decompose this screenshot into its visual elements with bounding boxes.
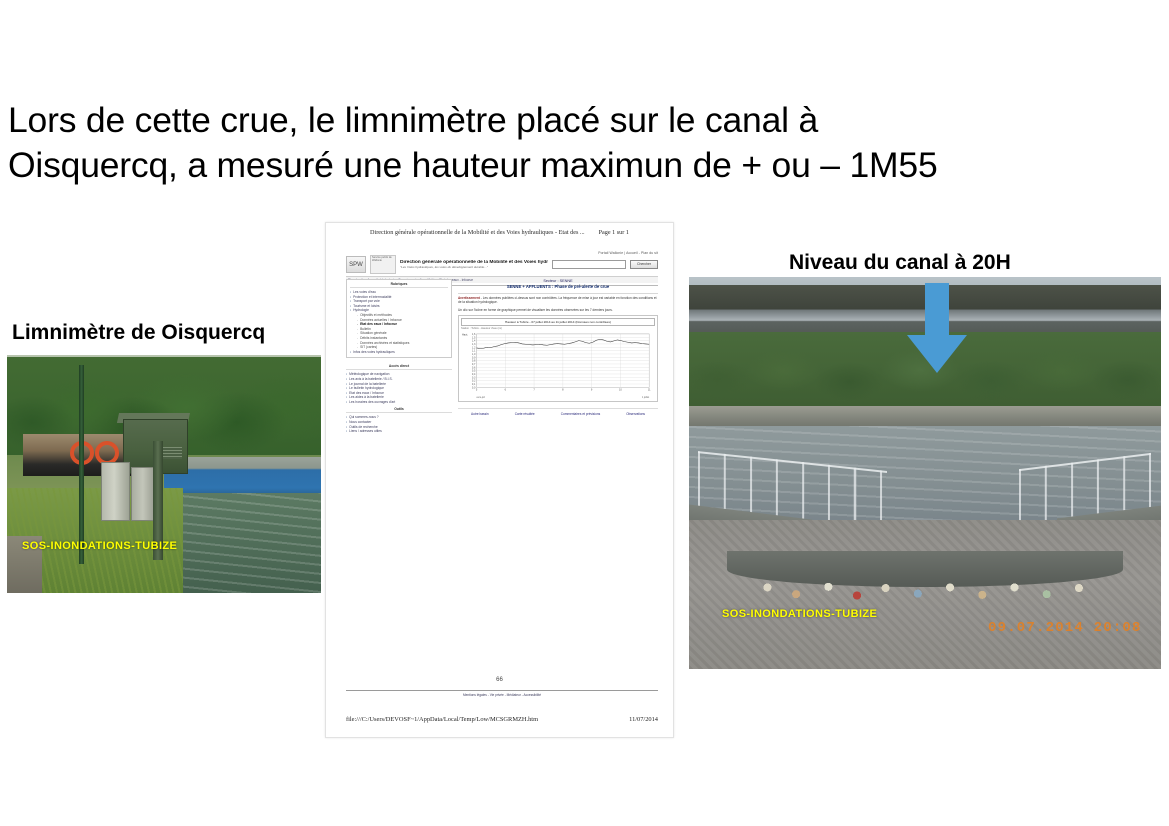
print-header-title: Direction générale opérationnelle de la …	[370, 229, 585, 236]
svg-text:8: 8	[562, 388, 564, 391]
caption-niveau-canal: Niveau du canal à 20H	[789, 250, 1011, 276]
chart-subtitle: Station : Tubize - Hauteur d'eau (m)	[461, 327, 655, 330]
print-footer-date: 11/07/2014	[629, 716, 658, 723]
svg-text:1,4: 1,4	[472, 339, 476, 342]
dept-slogan: "Les Voies hydrauliques, les voies du dé…	[400, 265, 548, 269]
chart-intro-text: Un clic sur l'icône en forme de graphiqu…	[458, 308, 658, 312]
link-previsions[interactable]: Commentaires et prévisions	[561, 412, 601, 416]
warning-prefix: Avertissement	[458, 296, 480, 300]
svg-text:0,4: 0,4	[472, 373, 476, 376]
svg-text:7: 7	[533, 388, 535, 391]
document-sidebar: Rubriques Les voies d'eau Protection et …	[346, 279, 452, 434]
svg-text:1,5: 1,5	[472, 336, 476, 339]
svg-text:0,5: 0,5	[472, 370, 476, 373]
svg-text:10: 10	[619, 388, 622, 391]
banner-text: Direction générale opérationnelle de la …	[400, 260, 548, 269]
sidebar-panel-acces-direct: Accès direct Météologique de navigation …	[346, 364, 452, 404]
chart-legend: Hauteur à Tubize - 07 juillet 2014 au 11…	[461, 318, 655, 326]
svg-text:0,8: 0,8	[472, 360, 476, 363]
arrow-down-icon	[905, 283, 969, 375]
svg-text:0,1: 0,1	[472, 383, 476, 386]
svg-text:11: 11	[648, 388, 651, 391]
photo-right-debris	[746, 575, 1105, 606]
link-observations[interactable]: Observations	[626, 412, 645, 416]
svg-text:0,6: 0,6	[472, 366, 476, 369]
sidebar-item-infos[interactable]: Infos des voies hydrauliques	[350, 350, 448, 355]
photo-left-pole	[79, 365, 84, 565]
print-footer-path: file:///C:/Users/DEVOSF~1/AppData/Local/…	[346, 716, 538, 723]
spw-logo: SPW	[346, 256, 366, 273]
document-links-row: Autre bassin Carte résultée Commentaires…	[458, 408, 658, 416]
photo-timestamp: 09.07.2014 20:08	[988, 620, 1142, 636]
svg-text:0,7: 0,7	[472, 363, 476, 366]
document-body: Rubriques Les voies d'eau Protection et …	[346, 279, 658, 434]
hydrograph-chart: 0,00,10,20,30,40,50,60,70,80,91,01,11,21…	[461, 331, 655, 399]
svg-text:1,6: 1,6	[472, 333, 476, 336]
tools-title: Outils	[346, 407, 452, 413]
svg-text:0,3: 0,3	[472, 376, 476, 379]
warning-notice: Avertissement - Les données publiées ci-…	[458, 293, 658, 305]
alert-title: SENNE + AFFLUENTS : Phase de pré-alerte …	[458, 284, 658, 289]
photo-limnimetre-oisquercq	[7, 355, 321, 593]
sidebar-panel-rubriques: Rubriques Les voies d'eau Protection et …	[346, 279, 452, 358]
wallonie-logo: Service public de Wallonie	[370, 255, 396, 274]
sidebar-panel-outils: Outils Qui sommes-nous ? Nous contacter …	[346, 407, 452, 433]
svg-text:1,2: 1,2	[472, 346, 476, 349]
tool-liens-utiles[interactable]: Liens / adresses utiles	[346, 429, 452, 434]
svg-text:1,1: 1,1	[472, 349, 476, 352]
print-footer: file:///C:/Users/DEVOSF~1/AppData/Local/…	[346, 716, 658, 723]
hydrograph-panel: Hauteur à Tubize - 07 juillet 2014 au 11…	[458, 315, 658, 402]
svg-text:1,3: 1,3	[472, 343, 476, 346]
quicklinks-title: Accès direct	[346, 364, 452, 370]
svg-text:5: 5	[476, 388, 478, 391]
watermark-left: SOS-INONDATIONS-TUBIZE	[22, 540, 177, 552]
slide-canvas: Lors de cette crue, le limnimètre placé …	[0, 0, 1169, 826]
lifebuoy-icon	[95, 441, 119, 465]
svg-text:6: 6	[505, 388, 507, 391]
search-button[interactable]: Chercher	[630, 260, 658, 269]
sector-label: Secteur : SENNE	[458, 279, 658, 283]
footer-links[interactable]: Mentions légales - Vie privée - Médiateu…	[346, 690, 658, 697]
page-title: Lors de cette crue, le limnimètre placé …	[8, 98, 1164, 188]
limnimeter-box-a	[101, 462, 130, 521]
document-main: Secteur : SENNE SENNE + AFFLUENTS : Phas…	[458, 279, 658, 434]
print-header-page: Page 1 sur 1	[599, 229, 629, 236]
caption-limnimetre: Limnimètre de Oisquercq	[12, 320, 265, 346]
sidebar-title: Rubriques	[350, 282, 448, 288]
watermark-right: SOS-INONDATIONS-TUBIZE	[722, 608, 877, 620]
svg-text:1,0: 1,0	[472, 353, 476, 356]
warning-text: - Les données publiées ci-dessus sont no…	[458, 296, 657, 304]
quicklink-horaires[interactable]: Les horaires des ouvrages d'art	[346, 400, 452, 405]
svg-text:1 juillet: 1 juillet	[642, 396, 650, 399]
svg-text:0,2: 0,2	[472, 380, 476, 383]
svg-text:9: 9	[591, 388, 593, 391]
document-scan-hydrology-report: Direction générale opérationnelle de la …	[325, 222, 674, 738]
page-marker: 66	[326, 677, 673, 683]
link-carte[interactable]: Carte résultée	[515, 412, 535, 416]
svg-text:0,9: 0,9	[472, 356, 476, 359]
link-autre-bassin[interactable]: Autre bassin	[471, 412, 489, 416]
svg-text:Haut.: Haut.	[462, 333, 468, 336]
print-header: Direction générale opérationnelle de la …	[326, 229, 673, 236]
svg-text:euro-juil: euro-juil	[477, 397, 486, 399]
search-input[interactable]	[552, 260, 626, 269]
banner-row: SPW Service public de Wallonie Direction…	[346, 255, 658, 274]
